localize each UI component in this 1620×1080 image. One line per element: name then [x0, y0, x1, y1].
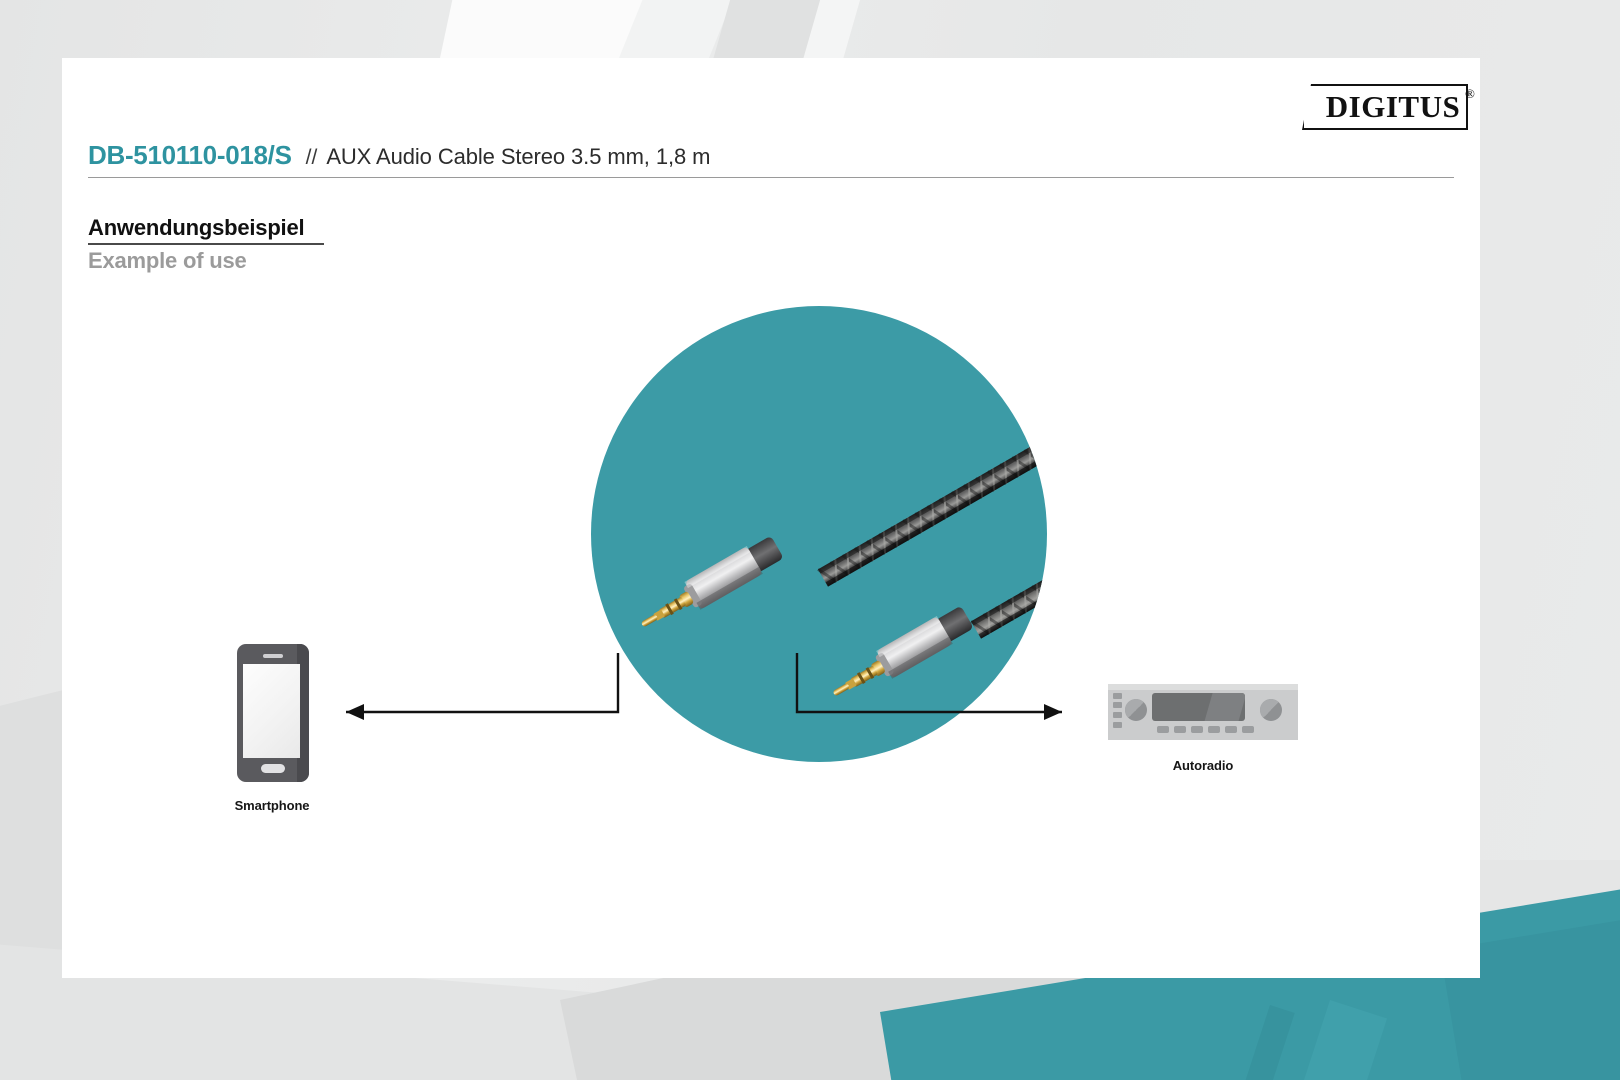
smartphone-icon — [237, 644, 309, 782]
radio-side-button-1 — [1113, 693, 1122, 699]
radio-chassis-highlight — [1108, 684, 1298, 690]
radio-knob-right-highlight — [1260, 699, 1282, 721]
background-banner-streak-1 — [1211, 1005, 1294, 1080]
radio-side-button-3 — [1113, 712, 1122, 718]
phone-screen — [243, 664, 300, 758]
radio-preset-button-5 — [1225, 726, 1237, 733]
document-card: DIGITUS ® DB-510110-018/S // AUX Audio C… — [62, 58, 1480, 978]
radio-preset-button-3 — [1191, 726, 1203, 733]
phone-earpiece-icon — [263, 654, 283, 658]
background-shard-bottom-3 — [884, 1020, 1225, 1080]
background-banner-streak-2 — [1268, 1000, 1387, 1080]
radio-preset-button-1 — [1157, 726, 1169, 733]
radio-side-button-2 — [1113, 702, 1122, 708]
radio-preset-button-4 — [1208, 726, 1220, 733]
autoradio-icon — [1108, 684, 1298, 740]
background-shard-right — [1470, 860, 1620, 1000]
connection-arrows — [62, 58, 1480, 978]
slide-canvas: DIGITUS ® DB-510110-018/S // AUX Audio C… — [0, 0, 1620, 1080]
arrow-to-autoradio — [797, 653, 1062, 720]
radio-preset-button-2 — [1174, 726, 1186, 733]
arrow-to-smartphone — [346, 653, 618, 720]
radio-preset-button-6 — [1242, 726, 1254, 733]
radio-knob-left-highlight — [1125, 699, 1147, 721]
radio-display — [1152, 693, 1245, 721]
radio-knob-left-icon — [1125, 699, 1147, 721]
autoradio-label: Autoradio — [1103, 758, 1303, 773]
radio-display-gloss — [1201, 693, 1245, 721]
phone-home-button-icon — [261, 764, 285, 773]
radio-side-button-4 — [1113, 722, 1122, 728]
radio-knob-right-icon — [1260, 699, 1282, 721]
smartphone-label: Smartphone — [172, 798, 372, 813]
